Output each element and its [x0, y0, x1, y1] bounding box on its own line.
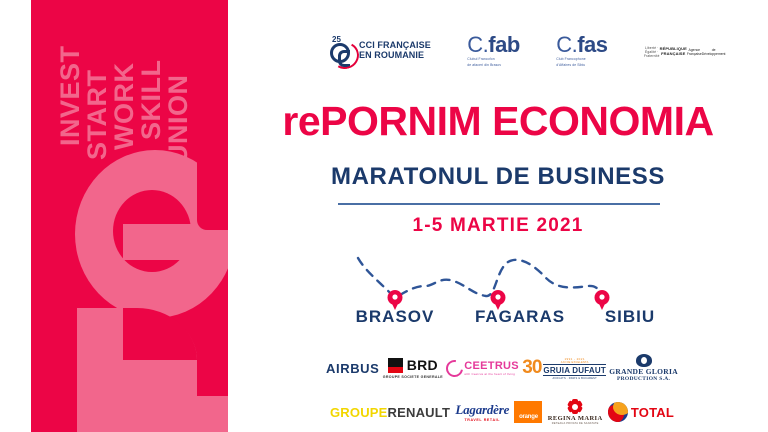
french-motto: Liberté · Égalité · Fraternité — [644, 46, 660, 58]
total-globe-icon — [608, 402, 628, 422]
logo-grande-gloria: GRANDE GLORIA PRODUCTION S.A. — [609, 354, 678, 382]
logo-cci-francaise-en-roumanie: 25 CCI FRANÇAISE EN ROUMANIE — [330, 36, 431, 66]
cfas-main: fas — [577, 32, 607, 57]
gruia-tagline: AVOCATS · PARIS & BUCAREST — [552, 377, 596, 380]
city-label-brasov: BRASOV — [330, 307, 460, 327]
brd-wordmark: BRD — [407, 357, 438, 373]
grande-gloria-wordmark: GRANDE GLORIA — [609, 367, 678, 376]
brd-square-icon — [388, 358, 403, 373]
cfas-sub-line-1: Club Francophone — [556, 57, 607, 62]
regina-maria-wordmark: REGINA MARIA — [548, 415, 603, 422]
ceetrus-lockup: CEETRUS with Ceetrus at the heart of liv… — [464, 360, 519, 376]
ceetrus-wordmark: CEETRUS — [464, 360, 519, 372]
re-logotype-e-terminal — [197, 150, 228, 230]
cci-line-2: EN ROUMANIE — [359, 51, 431, 61]
french-republic-line: RÉPUBLIQUE FRANÇAISE — [660, 46, 687, 56]
lagardere-tagline: TRAVEL RETAIL — [465, 418, 501, 422]
page-title-prefix: re — [282, 98, 320, 144]
renault-groupe-word: GROUPE — [330, 405, 388, 420]
logo-gruia-dufaut: 30 1991 - 2021 ANI DE EXCELENTA GRUIA DU… — [522, 357, 606, 380]
page-title-rest: PORNIM ECONOMIA — [320, 98, 713, 144]
banner-keyword-union: UNION — [165, 22, 192, 164]
gruia-anniversary-number: 30 — [522, 357, 541, 379]
brd-tagline: GROUPE SOCIETE GENERALE — [383, 375, 443, 379]
organizer-logo-row: 25 CCI FRANÇAISE EN ROUMANIE C.fab Clubu… — [330, 26, 700, 76]
cfab-sub-line-1: Clubul Francofon — [467, 57, 520, 62]
banner-keyword-invest: INVEST — [57, 22, 84, 146]
divider-rule — [338, 203, 660, 205]
regina-maria-star-icon — [568, 399, 583, 414]
sponsor-row-1: AIRBUS BRD GROUPE SOCIETE GENERALE CEETR… — [326, 350, 678, 386]
grande-gloria-crest-icon — [636, 354, 652, 367]
re-logotype-base — [77, 396, 228, 432]
cfab-sub-line-2: de afaceri din Brasov — [467, 63, 520, 68]
grande-gloria-tagline: PRODUCTION S.A. — [617, 376, 670, 382]
event-date: 1-5 MARTIE 2021 — [228, 215, 768, 237]
cfas-prefix: C. — [556, 32, 577, 57]
logo-ceetrus: CEETRUS with Ceetrus at the heart of liv… — [446, 360, 519, 377]
banner-keyword-skill: SKILL — [138, 22, 165, 140]
cfas-sub-line-2: d'Affaires de Sibiu — [556, 63, 607, 68]
logo-c-fas: C.fas Club Francophone d'Affaires de Sib… — [556, 34, 607, 67]
cfas-wordmark: C.fas — [556, 34, 607, 56]
logo-republique-francaise: Liberté · Égalité · Fraternité RÉPUBLIQU… — [644, 33, 700, 69]
orange-wordmark: orange — [519, 414, 538, 420]
ceetrus-arc-icon — [443, 356, 467, 380]
brd-lockup: BRD — [388, 357, 438, 373]
ceetrus-tagline: with Ceetrus at the heart of living — [464, 372, 515, 376]
afd-line-2: de Développement — [702, 48, 726, 56]
banner-keyword-start: START — [84, 22, 111, 160]
lagardere-wordmark: Lagardère — [455, 402, 509, 418]
gruia-lockup: 1991 - 2021 ANI DE EXCELENTA GRUIA DUFAU… — [543, 357, 606, 380]
renault-wordmark: RENAULT — [388, 405, 451, 420]
logo-lagardere: Lagardère TRAVEL RETAIL — [455, 402, 509, 423]
logo-total: TOTAL — [608, 402, 674, 422]
cfab-wordmark: C.fab — [467, 34, 520, 56]
re-logotype — [47, 150, 228, 432]
cfab-prefix: C. — [467, 32, 488, 57]
cci-wordmark: CCI FRANÇAISE EN ROUMANIE — [359, 41, 431, 60]
page-subtitle: MARATONUL DE BUSINESS — [228, 163, 768, 191]
afd-line-1: Agence Française — [687, 48, 702, 56]
logo-brd: BRD GROUPE SOCIETE GENERALE — [383, 357, 443, 379]
city-label-sibiu: SIBIU — [580, 307, 680, 327]
city-label-fagaras: FAGARAS — [460, 307, 580, 327]
logo-c-fab: C.fab Clubul Francofon de afaceri din Br… — [467, 34, 520, 67]
regina-maria-tagline: RETEAUA PRIVATA DE SANATATE — [552, 422, 599, 425]
gruia-wordmark: GRUIA DUFAUT — [543, 364, 606, 376]
page-title: rePORNIM ECONOMIA — [228, 98, 768, 145]
total-wordmark: TOTAL — [631, 405, 674, 420]
route-city-labels: BRASOV FAGARAS SIBIU — [330, 305, 680, 329]
sponsor-row-2: GROUPE RENAULT Lagardère TRAVEL RETAIL o… — [330, 396, 674, 428]
banner-keyword-work: WORK — [111, 22, 138, 150]
left-brand-banner: INVEST START WORK SKILL UNION — [31, 0, 228, 432]
logo-orange: orange — [514, 401, 542, 423]
logo-airbus: AIRBUS — [326, 361, 379, 376]
cci-emblem-icon: 25 — [330, 36, 356, 66]
cfab-main: fab — [488, 32, 520, 57]
logo-regina-maria: REGINA MARIA RETEAUA PRIVATA DE SANATATE — [548, 399, 603, 425]
logo-groupe-renault: GROUPE RENAULT — [330, 405, 450, 420]
re-logotype-r-notch — [123, 308, 197, 360]
poster-canvas: INVEST START WORK SKILL UNION 25 — [0, 0, 768, 432]
